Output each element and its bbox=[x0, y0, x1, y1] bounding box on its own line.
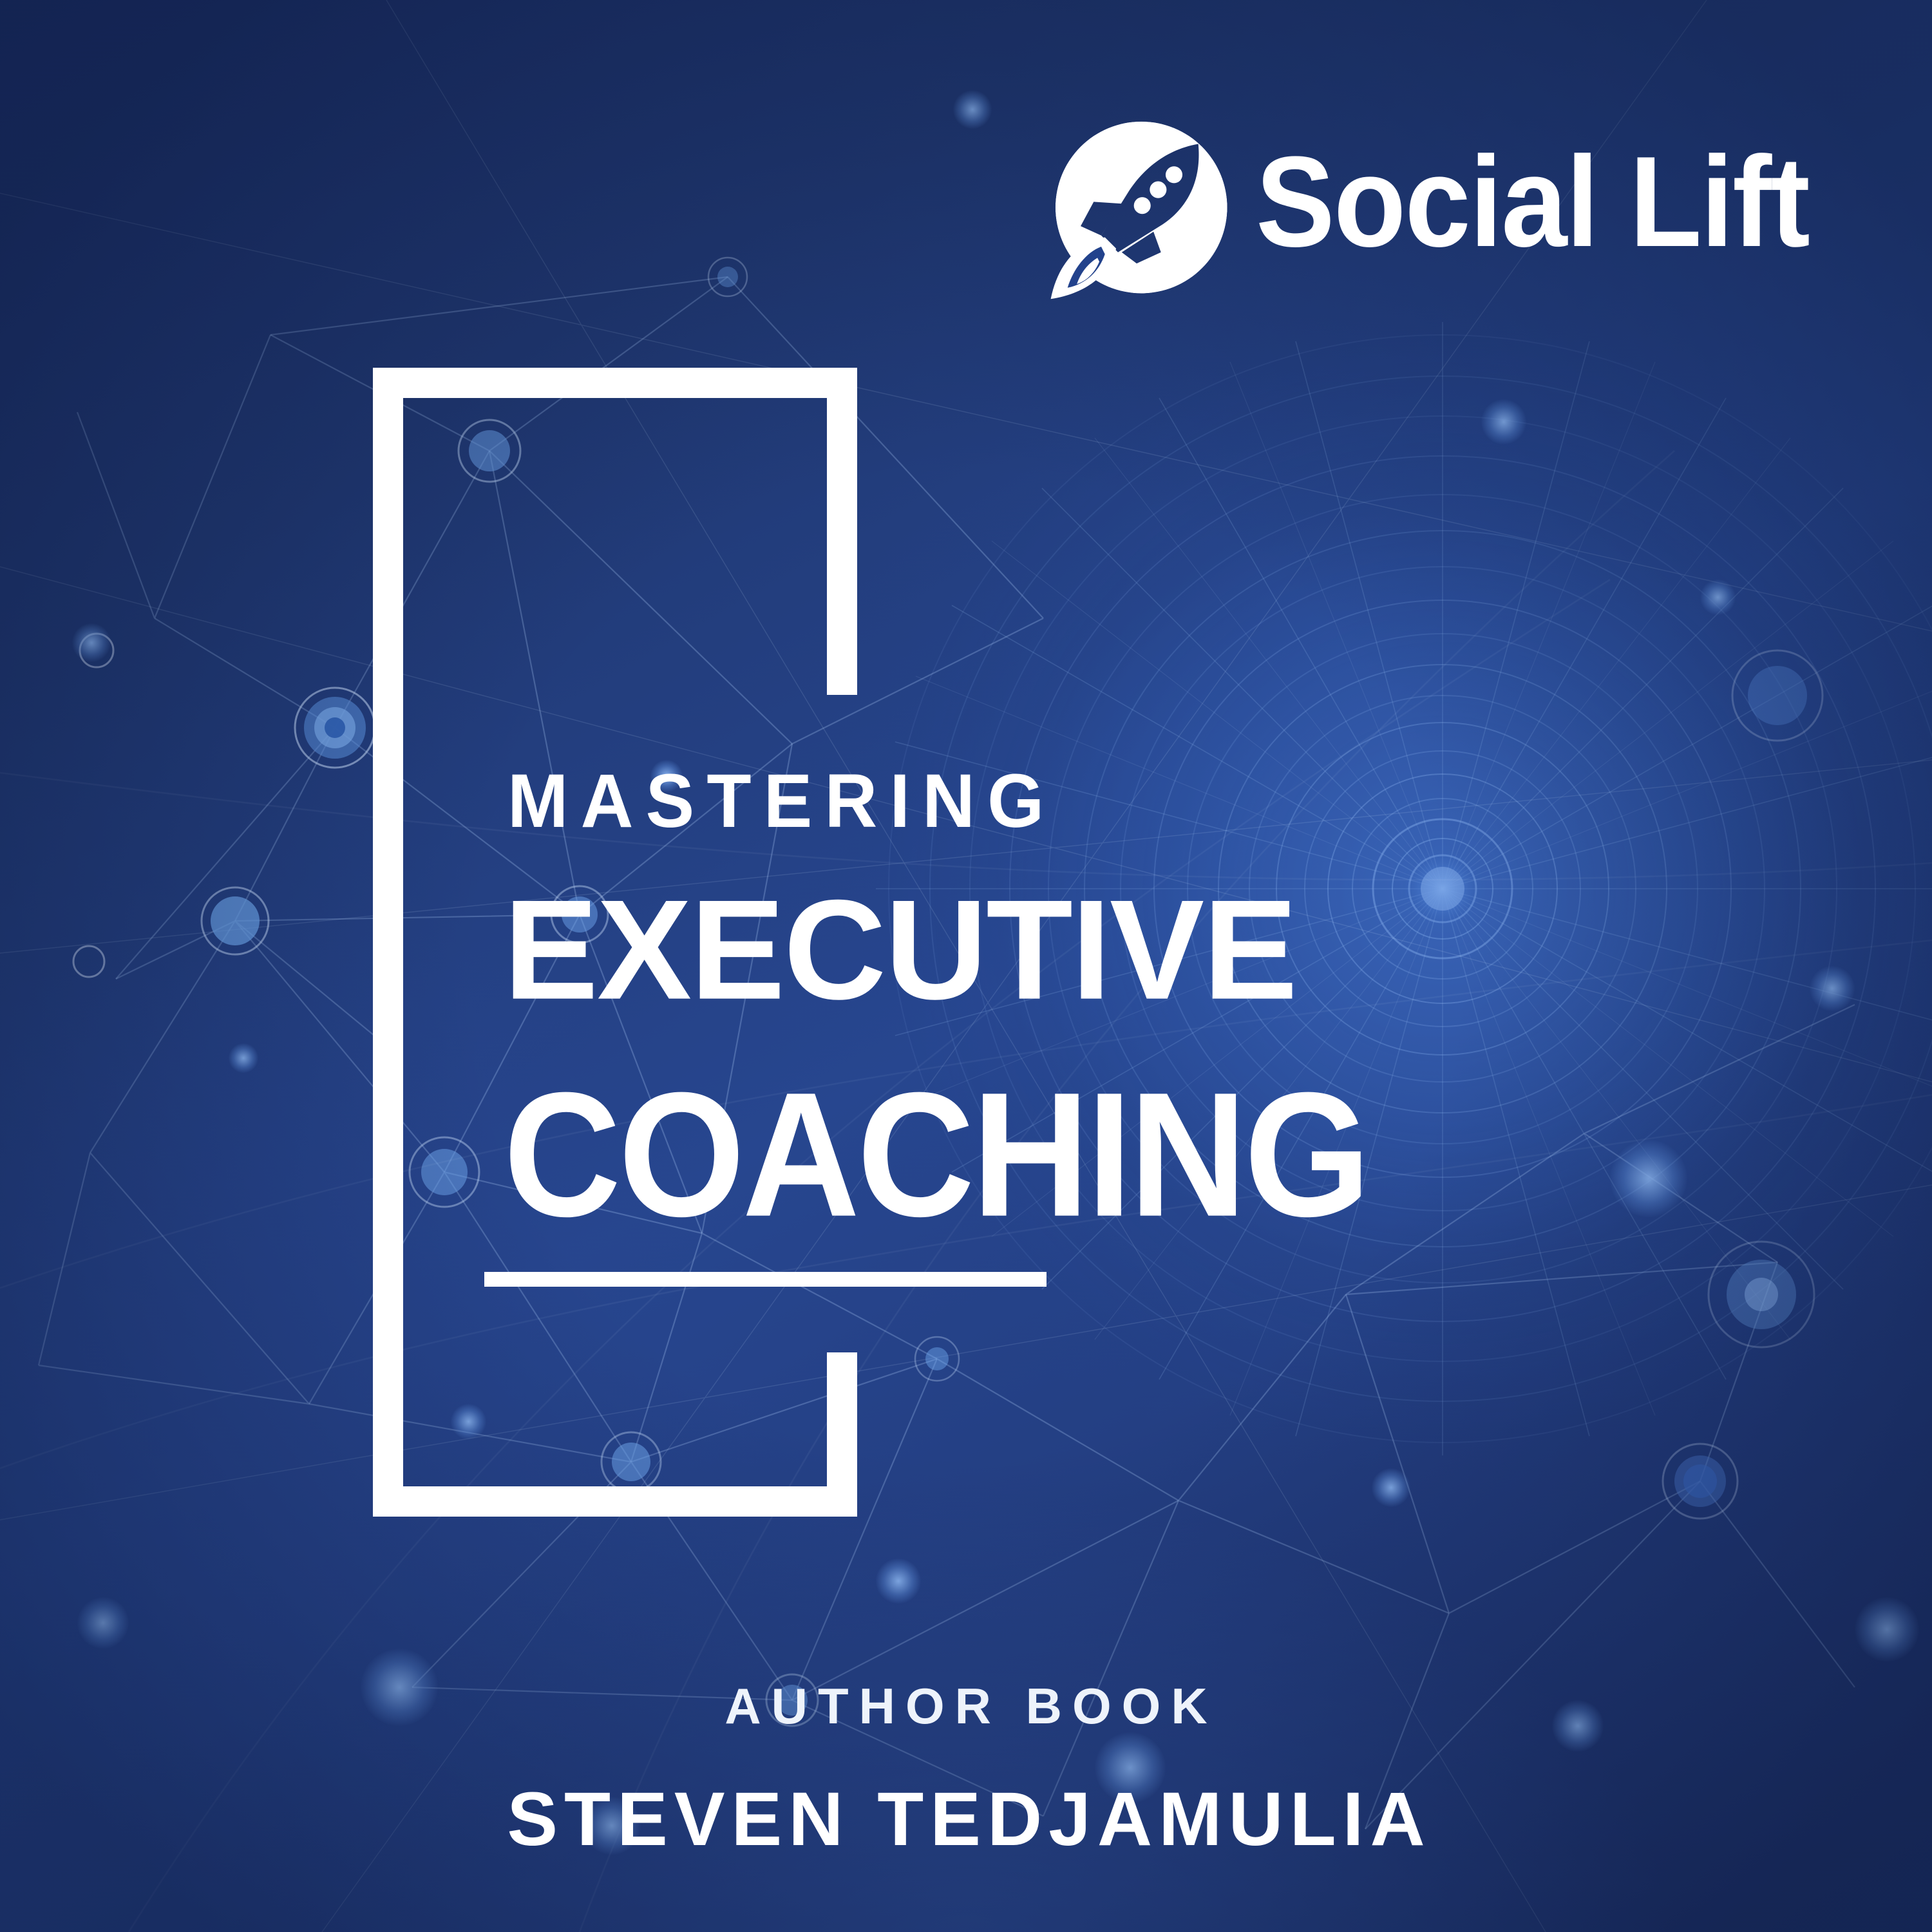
title-underline-rule bbox=[484, 1272, 1046, 1287]
title-line-2: COACHING bbox=[504, 1077, 1368, 1233]
author-block: AUTHOR BOOK STEVEN TEDJAMULIA bbox=[0, 1681, 1932, 1857]
author-label: AUTHOR BOOK bbox=[10, 1681, 1932, 1731]
book-cover: Social Lift MASTERING EXECUTIVE COACHING… bbox=[0, 0, 1932, 1932]
title-line-1: EXECUTIVE bbox=[504, 887, 1296, 1012]
author-name: STEVEN TEDJAMULIA bbox=[6, 1781, 1932, 1857]
title-block: MASTERING EXECUTIVE COACHING bbox=[0, 0, 1932, 1932]
title-kicker: MASTERING bbox=[507, 763, 1056, 839]
